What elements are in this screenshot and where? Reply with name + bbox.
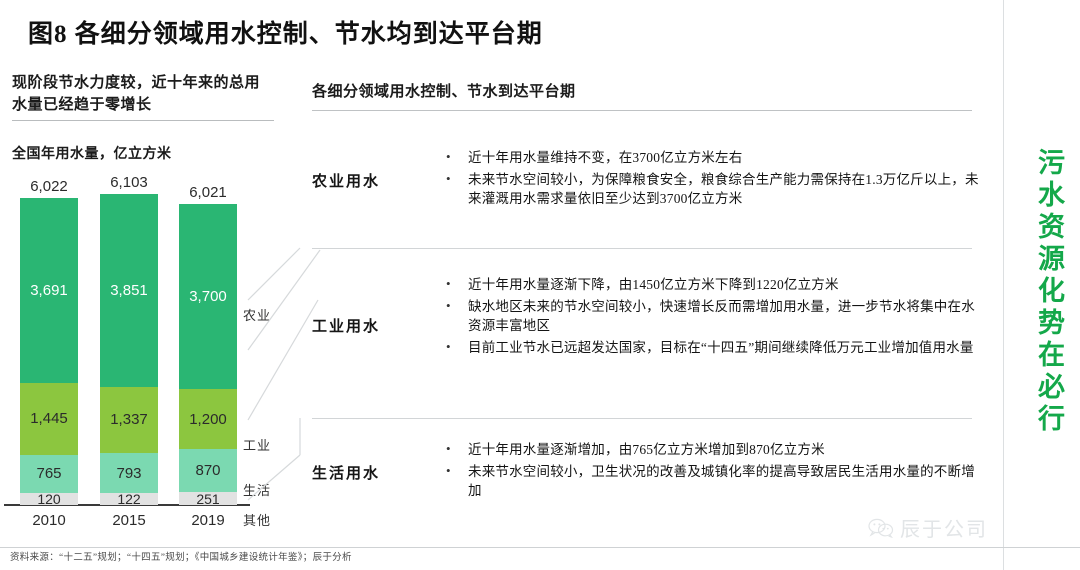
vertical-divider xyxy=(1003,0,1004,570)
watermark: 辰于公司 xyxy=(868,513,988,542)
x-axis-label: 2015 xyxy=(100,505,158,529)
bullet-item: 未来节水空间较小，为保障粮食安全，粮食综合生产能力需保持在1.3万亿斤以上，未来… xyxy=(440,170,980,209)
bar-group: 6,0223,6911,4457651202010 xyxy=(20,198,78,505)
right-column: 各细分领域用水控制、节水到达平台期 xyxy=(312,80,984,111)
bar-segment: 3,700 xyxy=(179,204,237,389)
series-label: 农业 xyxy=(243,305,271,324)
bullet-list: 近十年用水量逐渐增加，由765亿立方米增加到870亿立方米未来节水空间较小，卫生… xyxy=(440,440,980,503)
bar-segment: 870 xyxy=(179,449,237,492)
watermark-text: 辰于公司 xyxy=(900,513,988,542)
bar-segment: 122 xyxy=(100,493,158,505)
bar-segment: 1,445 xyxy=(20,383,78,455)
section-label: 工业用水 xyxy=(312,315,432,336)
series-label: 其他 xyxy=(243,510,271,529)
bullet-item: 未来节水空间较小，卫生状况的改善及城镇化率的提高导致居民生活用水量的不断增加 xyxy=(440,462,980,501)
bullet-item: 近十年用水量逐渐增加，由765亿立方米增加到870亿立方米 xyxy=(440,440,980,460)
bullet-item: 近十年用水量逐渐下降，由1450亿立方米下降到1220亿立方米 xyxy=(440,275,980,295)
bar-segment: 120 xyxy=(20,493,78,505)
vertical-headline: 污水资源化势在必行 xyxy=(1034,148,1064,436)
series-label: 工业 xyxy=(243,435,271,454)
x-axis-label: 2010 xyxy=(20,505,78,529)
bar-total-label: 6,021 xyxy=(179,184,237,204)
left-kicker-text: 现阶段节水力度较，近十年来的总用水量已经趋于零增长 xyxy=(12,72,274,116)
bullet-item: 近十年用水量维持不变，在3700亿立方米左右 xyxy=(440,148,980,168)
stacked-bar-chart: 6,0223,6911,44576512020106,1033,8511,337… xyxy=(0,180,300,550)
bar-segment: 3,851 xyxy=(100,194,158,386)
series-label: 生活 xyxy=(243,480,271,499)
left-kicker-divider xyxy=(12,120,274,121)
section-divider xyxy=(312,418,972,419)
chart-title: 全国年用水量，亿立方米 xyxy=(12,143,290,163)
section-label: 生活用水 xyxy=(312,462,432,483)
footer-divider xyxy=(0,547,1080,548)
wechat-icon xyxy=(868,518,894,538)
left-column: 现阶段节水力度较，近十年来的总用水量已经趋于零增长 全国年用水量，亿立方米 xyxy=(12,72,290,163)
bar-segment: 1,200 xyxy=(179,389,237,449)
bar-segment: 1,337 xyxy=(100,387,158,454)
bar-group: 6,0213,7001,2008702512019 xyxy=(179,204,237,505)
bullet-list: 近十年用水量维持不变，在3700亿立方米左右未来节水空间较小，为保障粮食安全，粮… xyxy=(440,148,980,211)
right-panel-header: 各细分领域用水控制、节水到达平台期 xyxy=(312,80,984,101)
bar-total-label: 6,103 xyxy=(100,174,158,194)
section-label: 农业用水 xyxy=(312,170,432,191)
x-axis-label: 2019 xyxy=(179,505,237,529)
bullet-item: 缺水地区未来的节水空间较小，快速增长反而需增加用水量，进一步节水将集中在水资源丰… xyxy=(440,297,980,336)
page-title: 图8 各细分领域用水控制、节水均到达平台期 xyxy=(28,14,543,50)
bar-total-label: 6,022 xyxy=(20,178,78,198)
bullet-list: 近十年用水量逐渐下降，由1450亿立方米下降到1220亿立方米缺水地区未来的节水… xyxy=(440,275,980,359)
slide-page: 图8 各细分领域用水控制、节水均到达平台期 现阶段节水力度较，近十年来的总用水量… xyxy=(0,0,1080,570)
section-divider xyxy=(312,248,972,249)
bar-segment: 3,691 xyxy=(20,198,78,382)
bar-segment: 793 xyxy=(100,453,158,493)
right-panel-divider xyxy=(312,110,972,111)
bar-group: 6,1033,8511,3377931222015 xyxy=(100,194,158,505)
bullet-item: 目前工业节水已远超发达国家，目标在“十四五”期间继续降低万元工业增加值用水量 xyxy=(440,338,980,358)
bar-segment: 765 xyxy=(20,455,78,493)
source-note: 资料来源：“十二五”规划；“十四五”规划；《中国城乡建设统计年鉴》；辰于分析 xyxy=(10,549,352,563)
bar-segment: 251 xyxy=(179,492,237,505)
